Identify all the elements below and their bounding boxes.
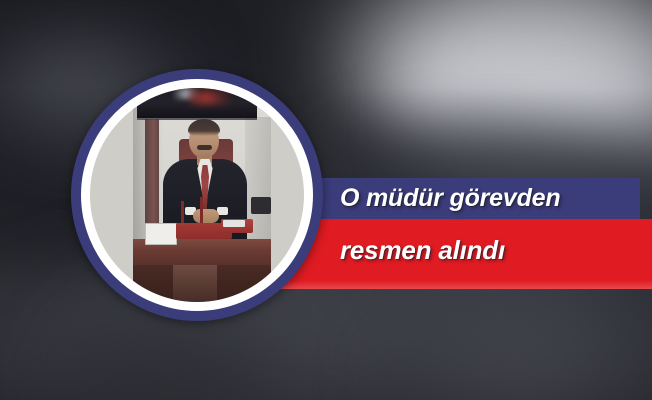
photo-desk-nameplate-secondary <box>221 219 253 233</box>
photo-desk-object <box>251 197 271 214</box>
photo-mustache <box>197 145 212 150</box>
photo-clasped-hands <box>193 209 219 223</box>
photo-frame-red-glow <box>189 88 231 106</box>
photo-hair <box>188 119 220 136</box>
photo-nameplate-label <box>223 220 245 227</box>
news-thumbnail-image: O müdür görevden resmen alındı <box>0 0 652 400</box>
photo-desk-reflection <box>173 265 217 302</box>
portrait-medallion <box>71 69 323 321</box>
photo-papers <box>145 223 177 245</box>
photo-wall-framed-picture <box>137 88 257 120</box>
medallion-photo-clip <box>90 88 304 302</box>
portrait-photo <box>133 88 271 302</box>
